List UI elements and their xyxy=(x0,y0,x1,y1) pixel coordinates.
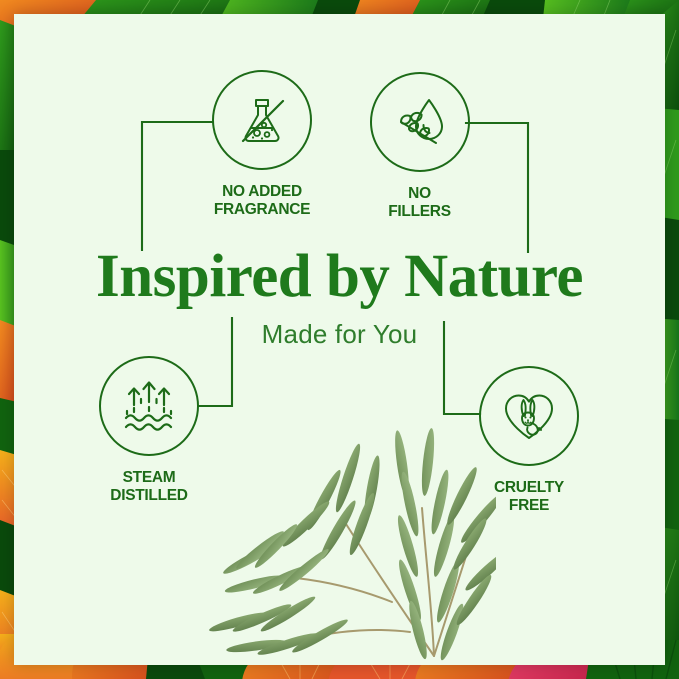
rabbit-heart-icon xyxy=(498,385,560,447)
steam-arrows-water-icon xyxy=(118,375,180,437)
badge-steam-distilled[interactable]: STEAM DISTILLED xyxy=(69,356,229,505)
droplet-leaf-icon xyxy=(389,91,451,153)
badge-no-fillers[interactable]: NO FILLERS xyxy=(342,72,497,221)
badge-caption: NO FILLERS xyxy=(342,185,497,221)
infographic-poster: Inspired by Nature Made for You xyxy=(0,0,679,679)
badge-no-added-fragrance[interactable]: NO ADDED FRAGRANCE xyxy=(182,70,342,219)
badge-caption: NO ADDED FRAGRANCE xyxy=(182,183,342,219)
badge-caption: CRUELTY FREE xyxy=(449,479,609,515)
badge-ring xyxy=(370,72,470,172)
page-title: Inspired by Nature xyxy=(0,246,679,308)
badge-ring xyxy=(212,70,312,170)
headline-block: Inspired by Nature Made for You xyxy=(0,246,679,350)
badge-caption: STEAM DISTILLED xyxy=(69,469,229,505)
badge-ring xyxy=(99,356,199,456)
badge-cruelty-free[interactable]: CRUELTY FREE xyxy=(449,366,609,515)
flask-no-fragrance-icon xyxy=(231,89,293,151)
badge-ring xyxy=(479,366,579,466)
page-subtitle: Made for You xyxy=(0,319,679,350)
